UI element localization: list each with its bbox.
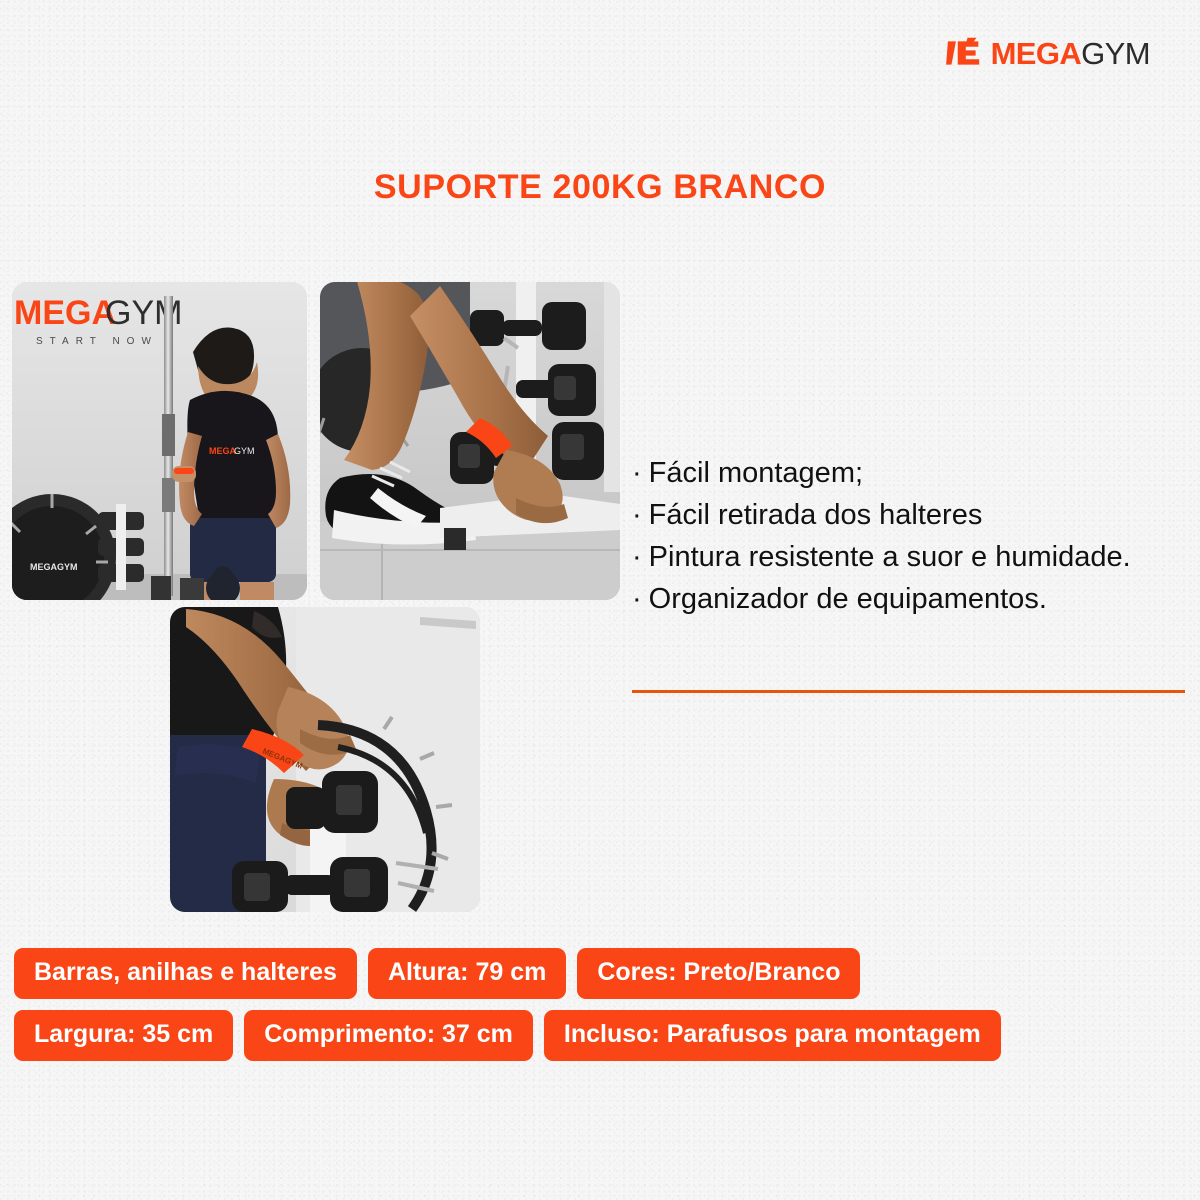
feature-text: Fácil retirada dos halteres [649, 499, 983, 531]
photo-3-artwork: MEGAGYM [170, 607, 480, 912]
svg-text:START NOW: START NOW [36, 336, 158, 347]
feature-list: ·Fácil montagem; ·Fácil retirada dos hal… [632, 452, 1192, 620]
svg-text:MEGAGYM: MEGAGYM [30, 562, 78, 572]
brand-name-secondary: GYM [1081, 36, 1150, 71]
feature-item: ·Organizador de equipamentos. [632, 578, 1192, 620]
brand-logo: MEGAGYM [946, 36, 1150, 70]
photo-removing-dumbbell [320, 282, 620, 600]
spec-badge: Incluso: Parafusos para montagem [544, 1010, 1001, 1061]
brand-name-primary: MEGA [991, 36, 1082, 71]
spec-badge-row-1: Barras, anilhas e halteres Altura: 79 cm… [14, 948, 1184, 999]
bullet-icon: · [632, 583, 642, 615]
spec-badge: Barras, anilhas e halteres [14, 948, 357, 999]
feature-underline-accent [632, 690, 1185, 693]
bullet-icon: · [632, 457, 642, 489]
photo-1-artwork: MEGA GYM START NOW MEGA GYM MEGAGYM [12, 282, 307, 600]
spec-badge: Comprimento: 37 cm [244, 1010, 533, 1061]
spec-badge: Cores: Preto/Branco [577, 948, 860, 999]
photo-man-with-barbell: MEGA GYM START NOW MEGA GYM MEGAGYM [12, 282, 307, 600]
photo-2-artwork [320, 282, 620, 600]
megagym-bolt-icon [946, 36, 982, 70]
svg-text:MEGA: MEGA [14, 294, 116, 332]
feature-text: Organizador de equipamentos. [649, 583, 1047, 615]
photo-organizing-dumbbells: MEGAGYM [170, 607, 480, 912]
feature-item: ·Fácil retirada dos halteres [632, 494, 1192, 536]
feature-text: Fácil montagem; [649, 457, 863, 489]
svg-text:GYM: GYM [234, 446, 255, 456]
spec-badge: Largura: 35 cm [14, 1010, 233, 1061]
spec-badge: Altura: 79 cm [368, 948, 566, 999]
spec-badges: Barras, anilhas e halteres Altura: 79 cm… [14, 948, 1184, 1072]
page-title: SUPORTE 200KG BRANCO [0, 168, 1200, 207]
feature-item: ·Fácil montagem; [632, 452, 1192, 494]
svg-text:MEGA: MEGA [209, 446, 237, 456]
feature-item: ·Pintura resistente a suor e humidade. [632, 536, 1192, 578]
brand-wordmark: MEGAGYM [991, 38, 1150, 69]
bullet-icon: · [632, 499, 642, 531]
feature-text: Pintura resistente a suor e humidade. [649, 541, 1131, 573]
spec-badge-row-2: Largura: 35 cm Comprimento: 37 cm Inclus… [14, 1010, 1184, 1061]
bullet-icon: · [632, 541, 642, 573]
